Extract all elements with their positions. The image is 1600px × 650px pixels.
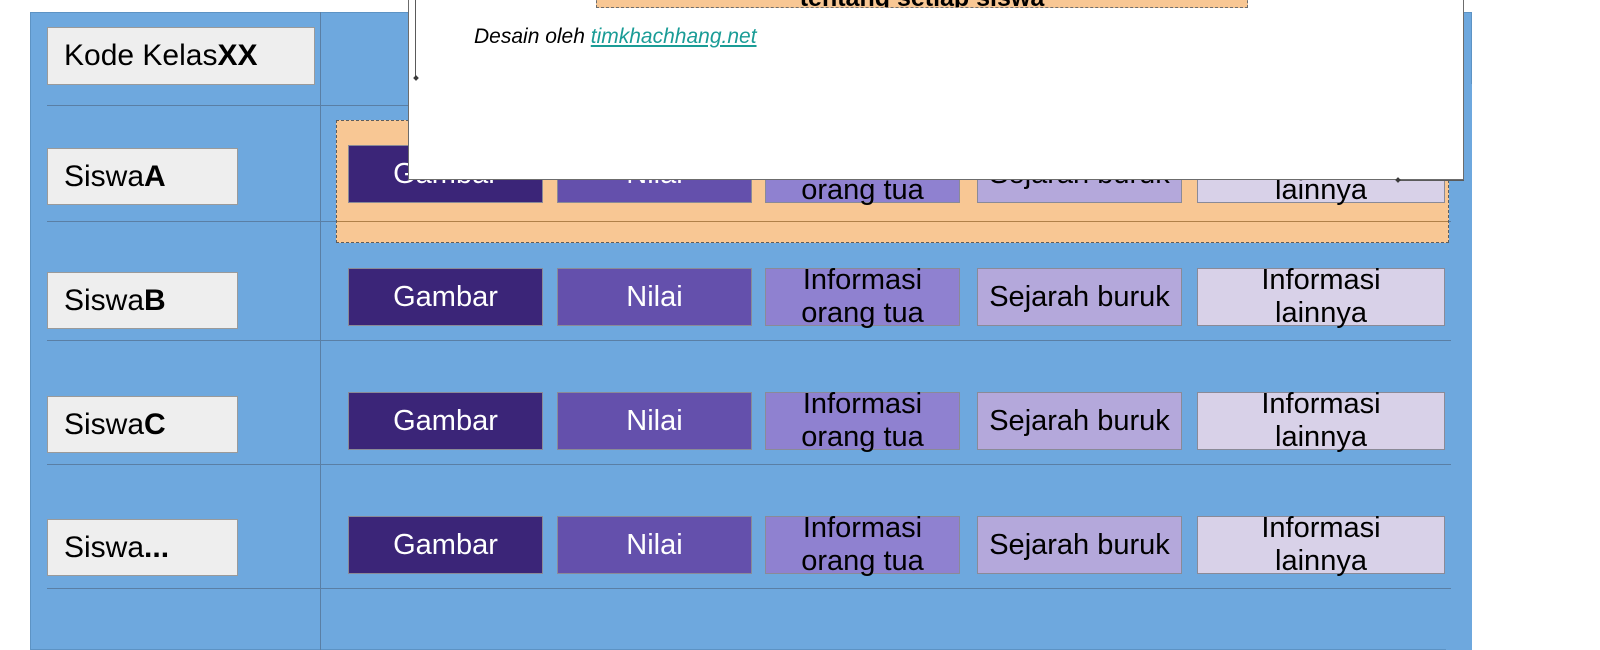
cell-b-ortu-label: Informasi orang tua: [766, 264, 959, 330]
cell-b-sejarah[interactable]: Sejarah buruk: [977, 268, 1182, 326]
note-heading: tentang setiap siswa: [596, 0, 1248, 8]
category-row-c: Gambar Nilai Informasi orang tua Sejarah…: [348, 392, 1446, 450]
student-chip-c[interactable]: Siswa C: [47, 396, 238, 453]
cell-more-ortu[interactable]: Informasi orang tua: [765, 516, 960, 574]
cell-b-lainnya[interactable]: Informasi lainnya: [1197, 268, 1445, 326]
design-credit: Desain oleh timkhachhang.net: [474, 25, 757, 49]
cell-more-ortu-label: Informasi orang tua: [766, 512, 959, 578]
leader-line-vertical: [415, 0, 416, 80]
design-credit-link[interactable]: timkhachhang.net: [591, 25, 757, 48]
student-chip-b-prefix: Siswa: [64, 284, 144, 318]
cell-b-lainnya-label: Informasi lainnya: [1221, 264, 1421, 330]
cell-c-sejarah-label: Sejarah buruk: [980, 405, 1180, 438]
cell-b-nilai[interactable]: Nilai: [557, 268, 752, 326]
cell-more-gambar[interactable]: Gambar: [348, 516, 543, 574]
cell-b-gambar[interactable]: Gambar: [348, 268, 543, 326]
student-chip-more-value: ...: [144, 531, 169, 565]
selection-inner-divider: [337, 221, 1448, 222]
class-code-value: XX: [217, 39, 257, 73]
cell-c-lainnya[interactable]: Informasi lainnya: [1197, 392, 1445, 450]
column-separator: [320, 12, 321, 650]
cell-more-gambar-label: Gambar: [349, 529, 542, 562]
category-row-b: Gambar Nilai Informasi orang tua Sejarah…: [348, 268, 1446, 326]
cell-c-ortu-label: Informasi orang tua: [766, 388, 959, 454]
cell-b-ortu[interactable]: Informasi orang tua: [765, 268, 960, 326]
cell-more-nilai[interactable]: Nilai: [557, 516, 752, 574]
diagram-canvas: Kode Kelas XX Siswa A Siswa B Siswa C Si…: [0, 0, 1600, 650]
cell-c-ortu[interactable]: Informasi orang tua: [765, 392, 960, 450]
student-chip-more[interactable]: Siswa ...: [47, 519, 238, 576]
student-chip-b[interactable]: Siswa B: [47, 272, 238, 329]
row-divider-4: [47, 464, 1451, 465]
row-divider-3: [47, 340, 1451, 341]
student-chip-c-prefix: Siswa: [64, 408, 144, 442]
class-code-prefix: Kode Kelas: [64, 39, 217, 73]
leader-arrow-down-icon: [412, 76, 419, 83]
cell-b-gambar-label: Gambar: [349, 281, 542, 314]
student-chip-a-prefix: Siswa: [64, 160, 144, 194]
cell-c-gambar-label: Gambar: [349, 405, 542, 438]
cell-more-sejarah-label: Sejarah buruk: [980, 529, 1180, 562]
cell-more-lainnya[interactable]: Informasi lainnya: [1197, 516, 1445, 574]
leader-arrow-left-icon: [1396, 177, 1403, 184]
student-chip-a[interactable]: Siswa A: [47, 148, 238, 205]
class-code-chip[interactable]: Kode Kelas XX: [47, 27, 315, 85]
student-chip-b-value: B: [144, 284, 166, 318]
student-chip-a-value: A: [144, 160, 166, 194]
student-chip-c-value: C: [144, 408, 166, 442]
cell-c-gambar[interactable]: Gambar: [348, 392, 543, 450]
cell-c-sejarah[interactable]: Sejarah buruk: [977, 392, 1182, 450]
cell-b-sejarah-label: Sejarah buruk: [980, 281, 1180, 314]
leader-line-horizontal: [1398, 180, 1464, 181]
cell-more-lainnya-label: Informasi lainnya: [1221, 512, 1421, 578]
cell-c-nilai-label: Nilai: [558, 405, 751, 438]
cell-c-nilai[interactable]: Nilai: [557, 392, 752, 450]
cell-more-sejarah[interactable]: Sejarah buruk: [977, 516, 1182, 574]
row-divider-5: [47, 588, 1451, 589]
design-credit-prefix: Desain oleh: [474, 25, 591, 48]
student-chip-more-prefix: Siswa: [64, 531, 144, 565]
category-row-more: Gambar Nilai Informasi orang tua Sejarah…: [348, 516, 1446, 574]
cell-b-nilai-label: Nilai: [558, 281, 751, 314]
cell-more-nilai-label: Nilai: [558, 529, 751, 562]
cell-c-lainnya-label: Informasi lainnya: [1221, 388, 1421, 454]
